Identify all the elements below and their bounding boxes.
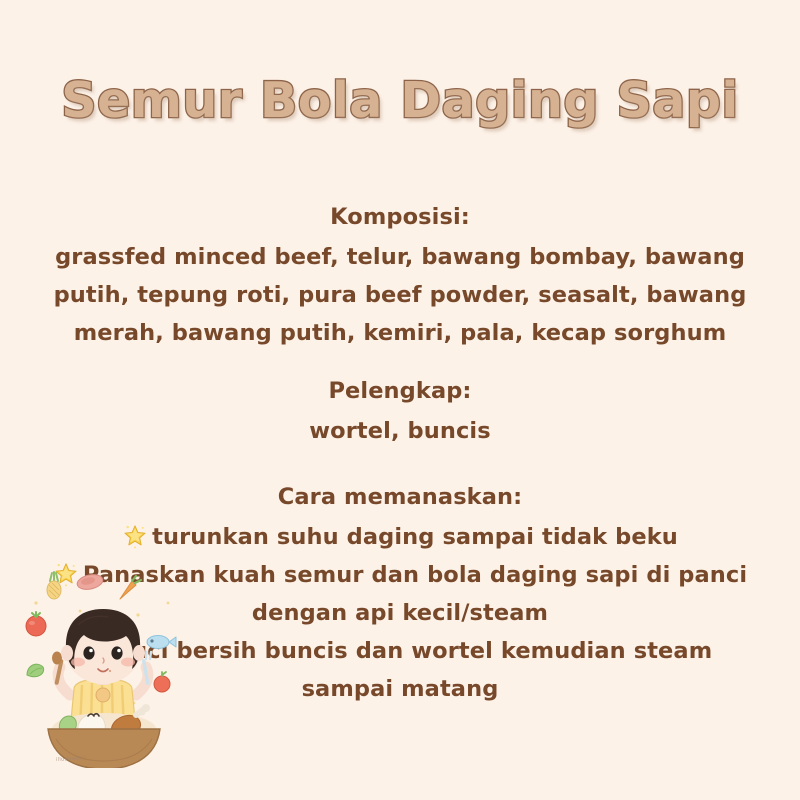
glowing-star-icon bbox=[122, 523, 148, 549]
cara-memanaskan-heading: Cara memanaskan: bbox=[0, 478, 800, 516]
pelengkap-section: Pelengkap: wortel, buncis bbox=[0, 372, 800, 450]
komposisi-line: putih, tepung roti, pura beef powder, se… bbox=[0, 276, 800, 314]
recipe-info-card: Semur Bola Daging Sapi Komposisi: grassf… bbox=[0, 0, 800, 800]
komposisi-section: Komposisi: grassfed minced beef, telur, … bbox=[0, 198, 800, 352]
step-item: turunkan suhu daging sampai tidak beku bbox=[0, 518, 800, 556]
page-title: Semur Bola Daging Sapi bbox=[0, 72, 800, 129]
child-with-food-bowl-illustration bbox=[18, 563, 190, 768]
pelengkap-line: wortel, buncis bbox=[0, 412, 800, 450]
komposisi-heading: Komposisi: bbox=[0, 198, 800, 236]
komposisi-line: grassfed minced beef, telur, bawang bomb… bbox=[0, 238, 800, 276]
pelengkap-heading: Pelengkap: bbox=[0, 372, 800, 410]
komposisi-line: merah, bawang putih, kemiri, pala, kecap… bbox=[0, 314, 800, 352]
step-text: cuci bersih buncis dan wortel kemudian s… bbox=[118, 638, 713, 664]
step-text: turunkan suhu daging sampai tidak beku bbox=[152, 524, 678, 550]
